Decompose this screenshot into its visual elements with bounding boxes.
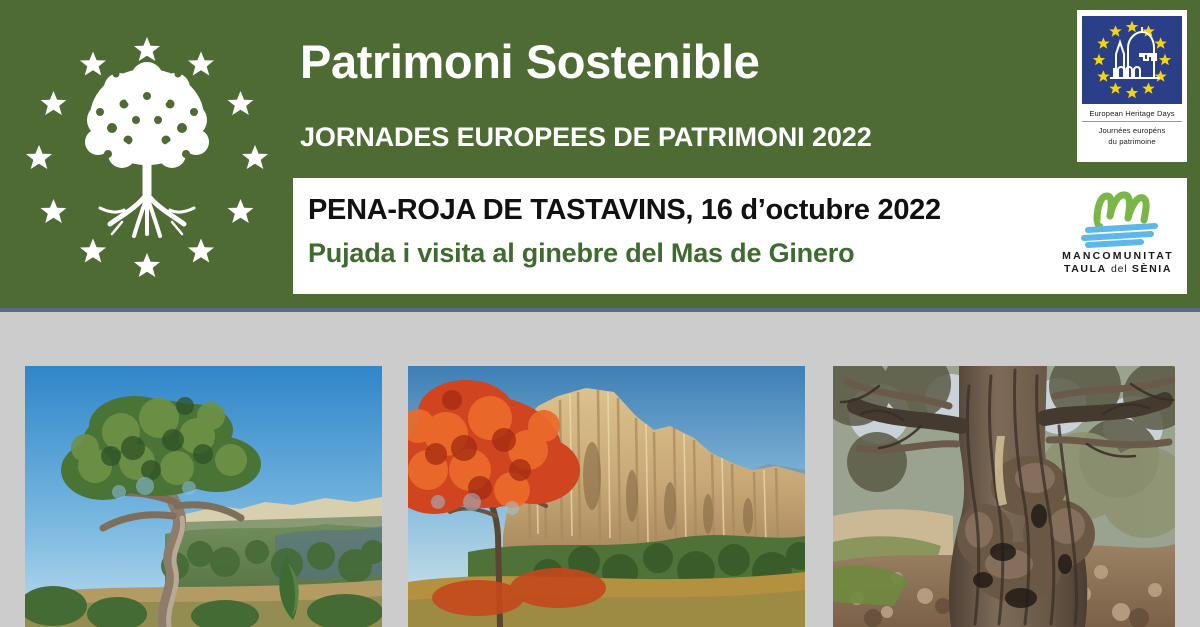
mancomunitat-name: MANCOMUNITAT	[1055, 250, 1181, 263]
eu-flag-icon	[1082, 16, 1182, 104]
ehd-label-french: Journées européns du patrimoine	[1082, 125, 1182, 147]
page-subtitle: JORNADES EUROPEES DE PATRIMONI 2022	[300, 124, 872, 151]
photo-autumn-tree-cliffs	[408, 366, 805, 627]
ehd-label-french-line2: du patrimoine	[1108, 137, 1155, 146]
ehd-label-english: European Heritage Days	[1082, 109, 1182, 122]
tree-with-stars-icon	[24, 12, 270, 300]
event-info-box: PENA-ROJA DE TASTAVINS, 16 d’octubre 202…	[293, 178, 1187, 294]
event-place-and-date: PENA-ROJA DE TASTAVINS, 16 d’octubre 202…	[308, 194, 941, 227]
mancomunitat-sub-taula: TAULA	[1064, 263, 1106, 275]
european-heritage-days-logo: European Heritage Days Journées européns…	[1077, 10, 1187, 162]
mancomunitat-sub-del: del	[1111, 263, 1127, 275]
photo-juniper-tree-landscape	[25, 366, 382, 627]
photo-ancient-gnarled-trunk	[833, 366, 1175, 627]
mancomunitat-sub-senia: SÈNIA	[1132, 263, 1172, 275]
mancomunitat-logo: MANCOMUNITAT TAULA del SÈNIA	[1055, 186, 1181, 286]
page-title: Patrimoni Sostenible	[300, 38, 759, 85]
mancomunitat-mark-icon	[1055, 186, 1181, 248]
mancomunitat-subname: TAULA del SÈNIA	[1055, 263, 1181, 276]
header-banner: Patrimoni Sostenible JORNADES EUROPEES D…	[0, 0, 1200, 312]
event-activity: Pujada i visita al ginebre del Mas de Gi…	[308, 238, 854, 269]
ehd-label-french-line1: Journées européns	[1099, 126, 1166, 135]
